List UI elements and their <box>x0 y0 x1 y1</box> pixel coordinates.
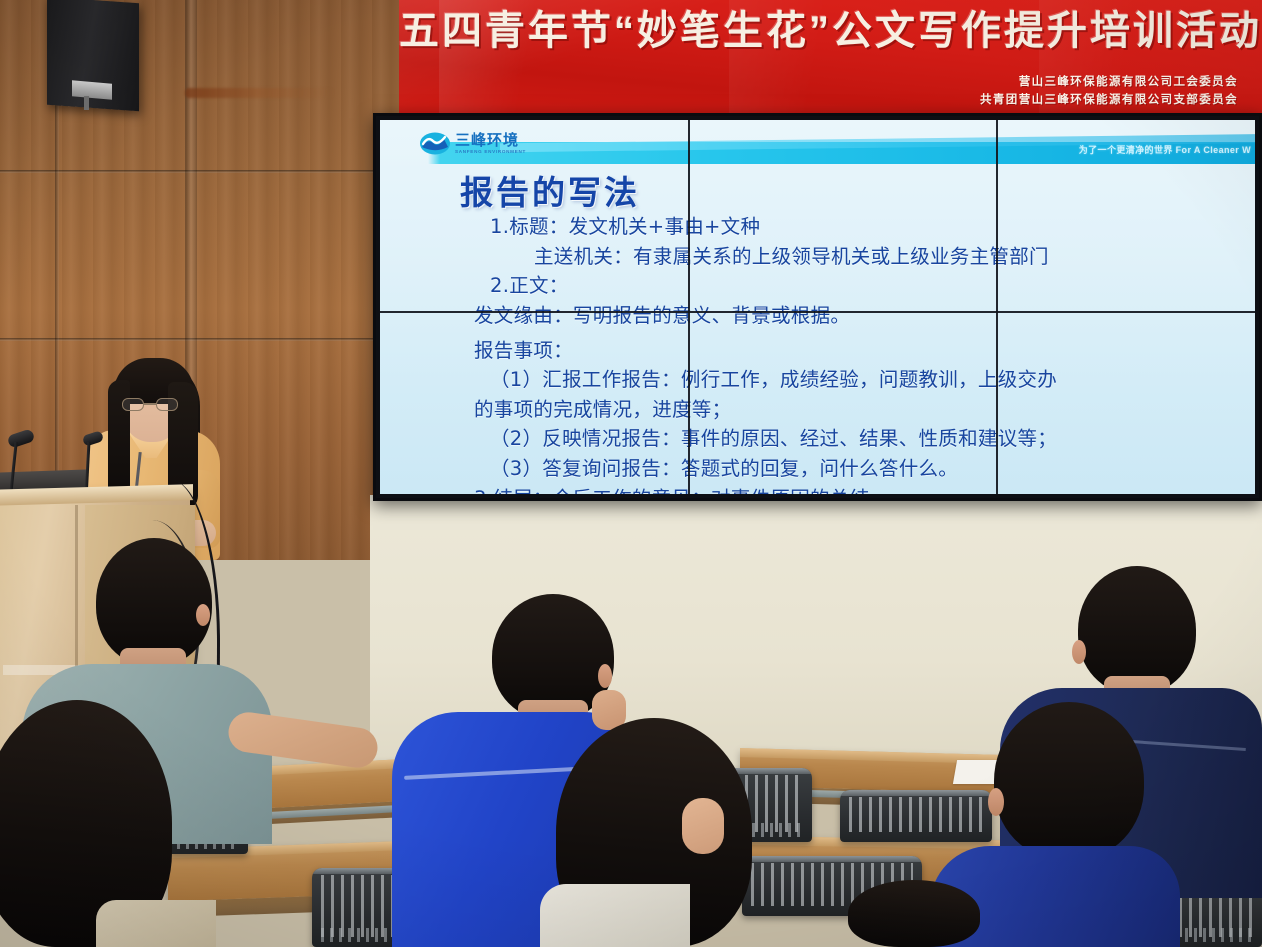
banner-organizers: 营山三峰环保能源有限公司工会委员会 共青团营山三峰环保能源有限公司支部委员会 <box>980 74 1238 110</box>
video-wall-display: 为了一个更清净的世界 For A Cleaner W 三峰环境 SANFENG … <box>373 113 1262 501</box>
slide-tagline: 为了一个更清净的世界 For A Cleaner W <box>1079 143 1251 156</box>
audience-shoulder <box>96 900 216 947</box>
slide-line: 1.标题：发文机关+事由+文种 <box>490 212 1245 242</box>
audience-shoulder <box>540 884 690 947</box>
slide-line: 发文缘由：写明报告的意义、背景或根据。 <box>474 301 1245 331</box>
chair <box>840 790 992 842</box>
slide-line: 2.正文： <box>490 271 1245 301</box>
audience-hand <box>682 798 724 854</box>
slide-body: 1.标题：发文机关+事由+文种 主送机关：有隶属关系的上级领导机关或上级业务主管… <box>490 212 1245 494</box>
logo-english-name: SANFENG ENVIRONMENT <box>455 150 526 155</box>
presentation-slide: 为了一个更清净的世界 For A Cleaner W 三峰环境 SANFENG … <box>380 120 1255 494</box>
panel-seam-vertical <box>996 120 998 494</box>
speaker-bracket-icon <box>72 80 112 99</box>
presenter-glasses-icon <box>122 398 180 411</box>
slide-line: 3.结尾：今后工作的意见；对事件原因的总结 <box>474 484 1245 494</box>
slide-line: 主送机关：有隶属关系的上级领导机关或上级业务主管部门 <box>490 242 1245 272</box>
event-banner: 五四青年节“妙笔生花”公文写作提升培训活动 营山三峰环保能源有限公司工会委员会 … <box>399 0 1262 114</box>
company-logo: 三峰环境 SANFENG ENVIRONMENT <box>420 132 526 155</box>
conference-photo: 五四青年节“妙笔生花”公文写作提升培训活动 营山三峰环保能源有限公司工会委员会 … <box>0 0 1262 947</box>
slide-line: 的事项的完成情况，进度等； <box>474 395 1245 425</box>
banner-org-line-1: 营山三峰环保能源有限公司工会委员会 <box>980 74 1238 92</box>
speaker-stem <box>84 96 89 110</box>
microphone-left <box>8 432 34 445</box>
slide-title: 报告的写法 <box>460 166 640 214</box>
panel-seam-vertical <box>688 120 690 494</box>
microphone-right <box>83 433 103 444</box>
sanfeng-wave-icon <box>420 132 450 155</box>
slide-line: 报告事项： <box>474 336 1245 366</box>
panel-seam-horizontal <box>380 311 1255 313</box>
slide-line: （1）汇报工作报告：例行工作，成绩经验，问题教训，上级交办 <box>490 365 1245 395</box>
banner-title: 五四青年节“妙笔生花”公文写作提升培训活动 <box>399 10 1254 52</box>
logo-chinese-name: 三峰环境 <box>455 133 526 148</box>
slide-line: （2）反映情况报告：事件的原因、经过、结果、性质和建议等； <box>490 424 1245 454</box>
banner-org-line-2: 共青团营山三峰环保能源有限公司支部委员会 <box>980 92 1238 110</box>
slide-line: （3）答复询问报告：答题式的回复，问什么答什么。 <box>490 454 1245 484</box>
